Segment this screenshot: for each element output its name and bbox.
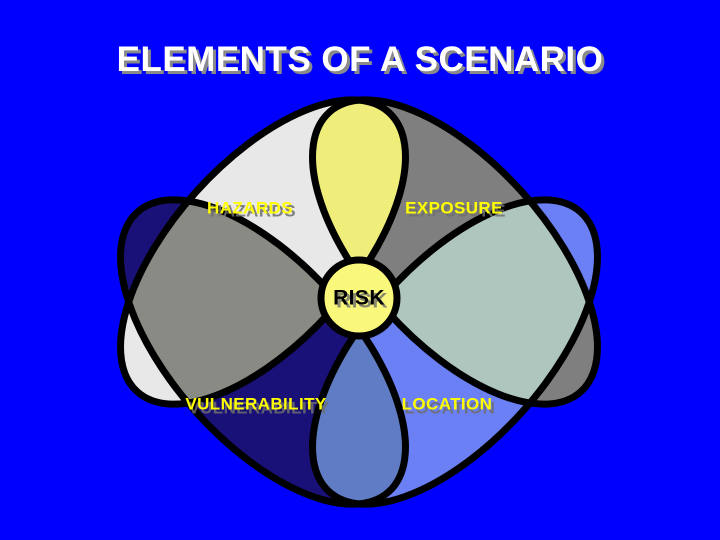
center-risk-node[interactable]: RISK RISK xyxy=(321,260,397,336)
venn-diagram: RISK RISK HAZARDS HAZARDS EXPOSURE EXPOS… xyxy=(0,0,720,540)
label-exposure: EXPOSURE xyxy=(405,198,503,217)
label-location: LOCATION xyxy=(402,394,493,413)
label-vulnerability: VULNERABILITY xyxy=(185,394,326,413)
slide-canvas: ELEMENTS OF A SCENARIO xyxy=(0,0,720,540)
label-hazards: HAZARDS xyxy=(207,198,293,217)
risk-label: RISK xyxy=(333,287,385,310)
